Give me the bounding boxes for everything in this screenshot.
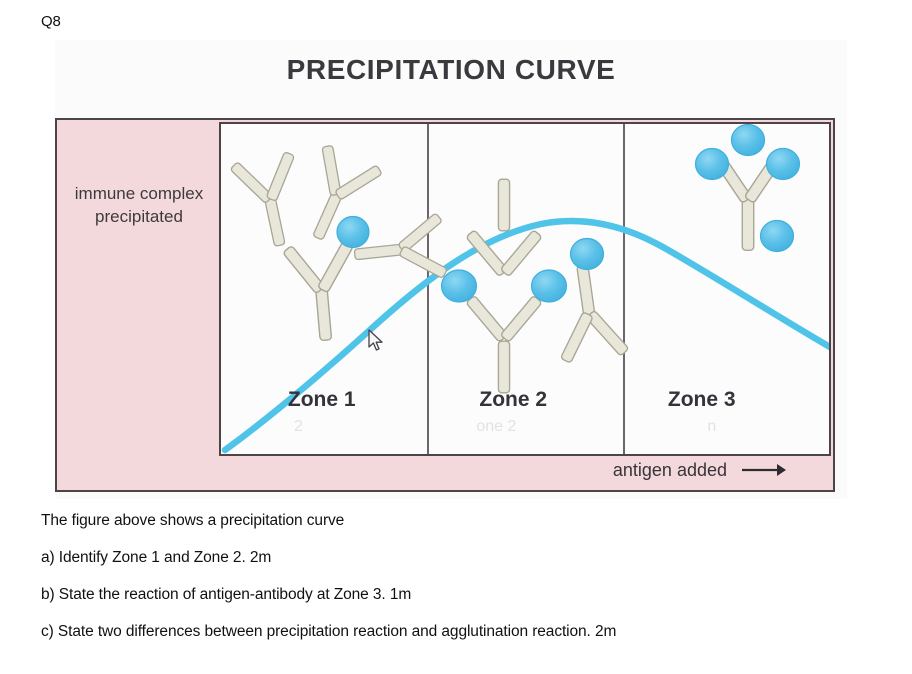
antibody-icon xyxy=(288,142,385,252)
antibody-icon xyxy=(466,295,542,392)
x-axis-label: antigen added xyxy=(613,460,727,481)
question-number: Q8 xyxy=(41,13,61,30)
figure-title: PRECIPITATION CURVE xyxy=(55,54,847,86)
zone-ghost-label-3: n xyxy=(707,418,716,436)
antigen-icon xyxy=(532,270,567,302)
zone-label-3: Zone 3 xyxy=(668,388,736,412)
antibody-icon xyxy=(282,240,361,343)
antigen-icon xyxy=(761,221,794,252)
zone-ghost-label-2: one 2 xyxy=(476,418,516,436)
question-body: The figure above shows a precipitation c… xyxy=(41,512,871,641)
precipitation-curve-figure: PRECIPITATION CURVE immune complex preci… xyxy=(55,40,847,499)
mouse-cursor-icon xyxy=(368,329,386,353)
antibody-icon xyxy=(466,179,542,276)
antigen-icon xyxy=(732,125,765,156)
chart-frame: immune complex precipitated antigen adde… xyxy=(55,118,835,492)
zone-label-1: Zone 1 xyxy=(288,388,356,412)
y-axis-label: immune complex precipitated xyxy=(61,182,217,228)
antibody-icon xyxy=(229,150,312,252)
question-part-c: c) State two differences between precipi… xyxy=(41,623,871,641)
question-part-b: b) State the reaction of antigen-antibod… xyxy=(41,586,871,604)
right-arrow-icon xyxy=(741,462,787,478)
zone-ghost-label-1: 2 xyxy=(294,418,303,436)
antigen-icon xyxy=(571,239,604,270)
question-part-a: a) Identify Zone 1 and Zone 2. 2m xyxy=(41,549,871,567)
antigen-icon xyxy=(696,149,729,180)
antigen-icon xyxy=(337,217,369,248)
x-axis-row: antigen added xyxy=(219,452,831,488)
plot-area: Zone 1 2 Zone 2 one 2 Zone 3 n xyxy=(219,122,831,456)
zone-label-2: Zone 2 xyxy=(479,388,547,412)
antigen-icon xyxy=(442,270,477,302)
antigen-icon xyxy=(767,149,800,180)
question-intro: The figure above shows a precipitation c… xyxy=(41,512,871,530)
